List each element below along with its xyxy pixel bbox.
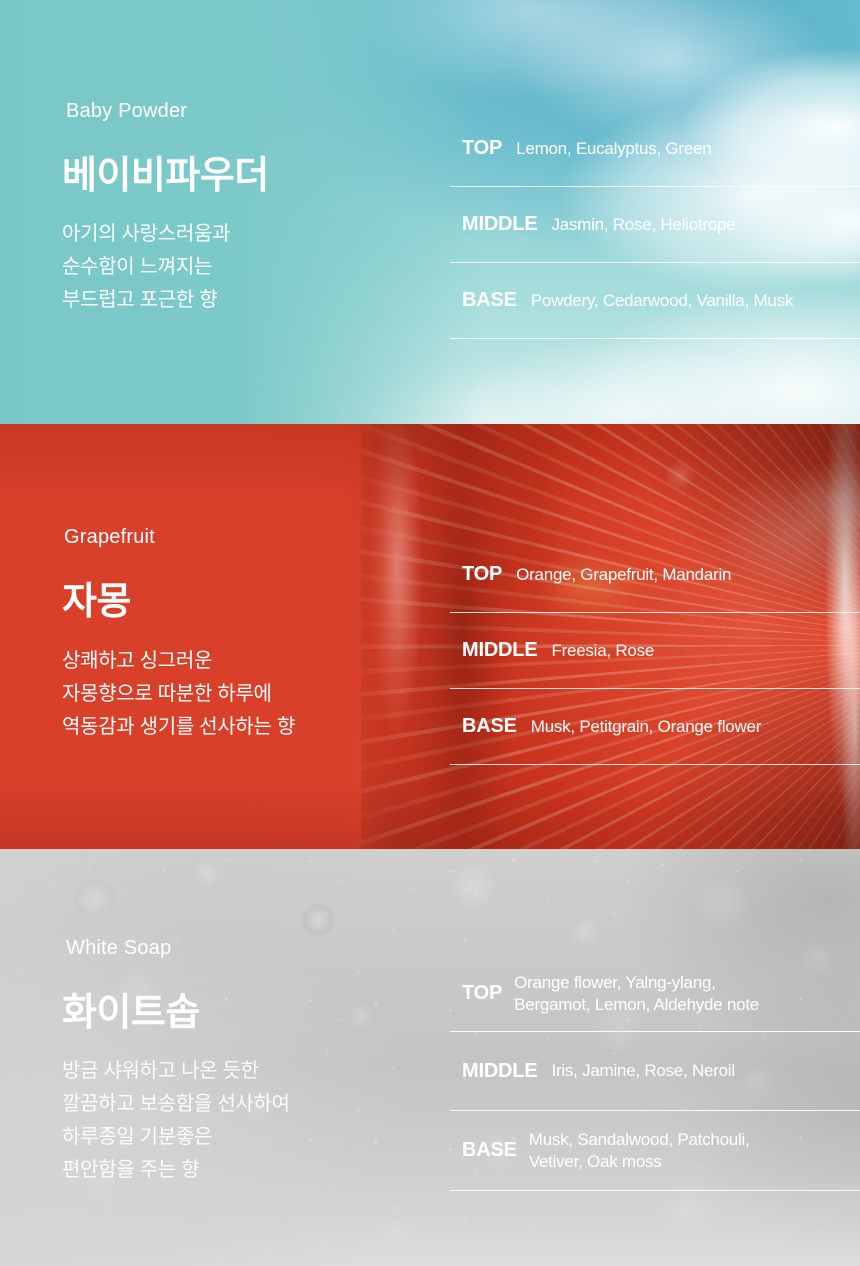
title-baby-powder: 베이비파우더 [62,144,269,199]
notes-list-grapefruit: TOP Orange, Grapefruit, Mandarin MIDDLE … [450,537,860,765]
panel-baby-powder: Baby Powder 베이비파우더 아기의 사랑스러움과 순수함이 느껴지는 … [0,0,860,424]
note-label-base: BASE [462,289,517,312]
panel-grapefruit: Grapefruit 자몽 상쾌하고 싱그러운 자몽향으로 따분한 하루에 역동… [0,424,860,849]
fragrance-notes-page: Baby Powder 베이비파우더 아기의 사랑스러움과 순수함이 느껴지는 … [0,0,860,1266]
note-value-base: Powdery, Cedarwood, Vanilla, Musk [531,290,793,312]
note-value-top: Orange, Grapefruit, Mandarin [516,564,731,586]
notes-list-baby-powder: TOP Lemon, Eucalyptus, Green MIDDLE Jasm… [450,111,860,339]
note-row-middle: MIDDLE Jasmin, Rose, Heliotrope [450,187,860,263]
panel-white-soap: White Soap 화이트솝 방금 샤워하고 나온 듯한 깔끔하고 보송함을 … [0,849,860,1266]
note-label-base: BASE [462,715,517,738]
note-row-top: TOP Orange, Grapefruit, Mandarin [450,537,860,613]
note-label-middle: MIDDLE [462,639,537,662]
note-row-top: TOP Lemon, Eucalyptus, Green [450,111,860,187]
note-label-top: TOP [462,137,502,160]
eyebrow-baby-powder: Baby Powder [66,100,187,123]
note-value-top: Lemon, Eucalyptus, Green [516,138,711,160]
note-value-middle: Iris, Jamine, Rose, Neroil [551,1060,734,1082]
white-soap-text-column: White Soap 화이트솝 방금 샤워하고 나온 듯한 깔끔하고 보송함을 … [0,849,442,1266]
note-row-middle: MIDDLE Iris, Jamine, Rose, Neroil [450,1032,860,1111]
eyebrow-grapefruit: Grapefruit [64,526,155,549]
note-value-middle: Freesia, Rose [551,640,654,662]
note-value-middle: Jasmin, Rose, Heliotrope [551,214,735,236]
note-row-base: BASE Powdery, Cedarwood, Vanilla, Musk [450,263,860,339]
note-value-base: Musk, Petitgrain, Orange flower [531,716,761,738]
note-label-base: BASE [462,1139,517,1162]
description-baby-powder: 아기의 사랑스러움과 순수함이 느껴지는 부드럽고 포근한 향 [62,218,230,317]
note-row-base: BASE Musk, Sandalwood, Patchouli, Vetive… [450,1111,860,1191]
note-row-middle: MIDDLE Freesia, Rose [450,613,860,689]
baby-powder-text-column: Baby Powder 베이비파우더 아기의 사랑스러움과 순수함이 느껴지는 … [0,0,442,424]
grapefruit-text-column: Grapefruit 자몽 상쾌하고 싱그러운 자몽향으로 따분한 하루에 역동… [0,424,442,849]
description-grapefruit: 상쾌하고 싱그러운 자몽향으로 따분한 하루에 역동감과 생기를 선사하는 향 [62,645,295,744]
note-label-middle: MIDDLE [462,213,537,236]
note-value-top: Orange flower, Yalng-ylang, Bergamot, Le… [514,972,759,1016]
title-white-soap: 화이트솝 [62,981,200,1036]
note-label-top: TOP [462,563,502,586]
note-value-base: Musk, Sandalwood, Patchouli, Vetiver, Oa… [529,1129,750,1173]
note-row-top: TOP Orange flower, Yalng-ylang, Bergamot… [450,956,860,1032]
title-grapefruit: 자몽 [62,570,131,625]
note-row-base: BASE Musk, Petitgrain, Orange flower [450,689,860,765]
eyebrow-white-soap: White Soap [66,937,171,960]
note-label-middle: MIDDLE [462,1060,537,1083]
notes-list-white-soap: TOP Orange flower, Yalng-ylang, Bergamot… [450,956,860,1191]
description-white-soap: 방금 샤워하고 나온 듯한 깔끔하고 보송함을 선사하여 하루종일 기분좋은 편… [62,1055,290,1187]
note-label-top: TOP [462,982,502,1005]
